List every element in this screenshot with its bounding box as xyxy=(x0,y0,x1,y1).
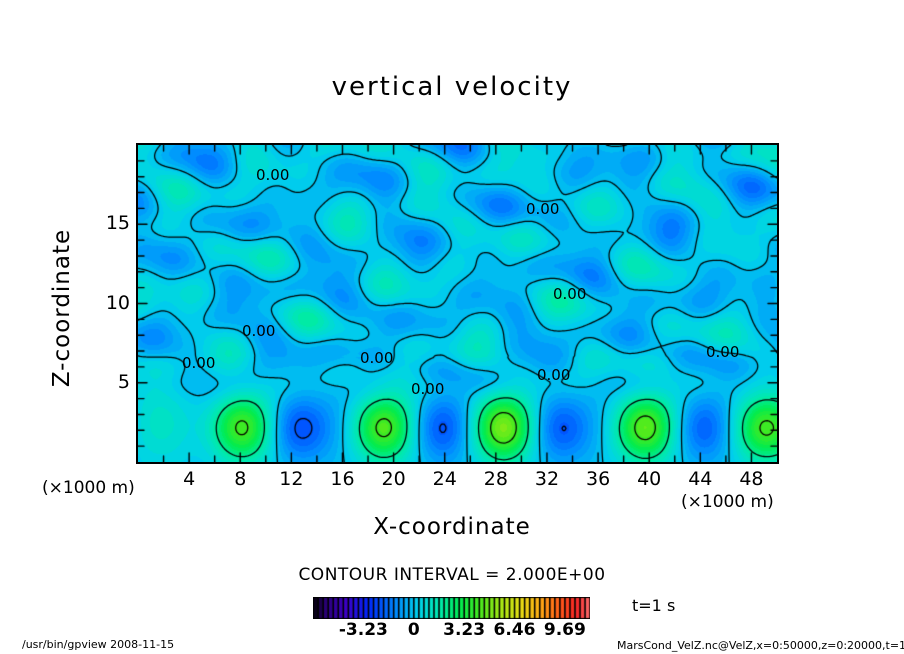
y-tick-label: 10 xyxy=(90,292,130,314)
colorbar xyxy=(313,597,590,619)
contour-label: 0.00 xyxy=(360,349,393,367)
footer-command: /usr/bin/gpview 2008-11-15 xyxy=(22,638,174,651)
contour-label: 0.00 xyxy=(706,343,739,361)
contour-interval-caption: CONTOUR INTERVAL = 2.000E+00 xyxy=(0,565,904,585)
x-tick-label: 40 xyxy=(627,468,671,490)
footer-dataset: MarsCond_VelZ.nc@VelZ,x=0:50000,z=0:2000… xyxy=(617,639,904,652)
contour-label: 0.00 xyxy=(242,322,275,340)
contour-label: 0.00 xyxy=(553,285,586,303)
y-tick-label: 5 xyxy=(90,371,130,393)
y-tick-label: 15 xyxy=(90,212,130,234)
x-tick-label: 4 xyxy=(167,468,211,490)
x-axis-unit-right: (×1000 m) xyxy=(681,492,774,512)
contour-label: 0.00 xyxy=(256,166,289,184)
colorbar-tick-label: 9.69 xyxy=(535,620,595,640)
page-title: vertical velocity xyxy=(0,72,904,102)
contour-field-canvas xyxy=(138,145,777,462)
x-tick-label: 20 xyxy=(372,468,416,490)
x-axis-label: X-coordinate xyxy=(0,514,904,540)
contour-label: 0.00 xyxy=(182,354,215,372)
x-tick-label: 48 xyxy=(729,468,773,490)
x-tick-label: 16 xyxy=(320,468,364,490)
contour-label: 0.00 xyxy=(537,366,570,384)
x-tick-label: 24 xyxy=(423,468,467,490)
x-tick-label: 12 xyxy=(269,468,313,490)
x-tick-label: 44 xyxy=(678,468,722,490)
x-tick-label: 8 xyxy=(218,468,262,490)
y-axis-label: Z-coordinate xyxy=(49,208,75,408)
x-axis-unit-left: (×1000 m) xyxy=(42,478,135,498)
x-tick-label: 36 xyxy=(576,468,620,490)
colorbar-gradient xyxy=(313,597,590,619)
contour-label: 0.00 xyxy=(411,380,444,398)
x-tick-label: 32 xyxy=(525,468,569,490)
contour-label: 0.00 xyxy=(526,200,559,218)
plot-area: 0.000.000.000.000.000.000.000.000.00 xyxy=(136,143,779,464)
time-label: t=1 s xyxy=(632,596,675,615)
x-tick-label: 28 xyxy=(474,468,518,490)
